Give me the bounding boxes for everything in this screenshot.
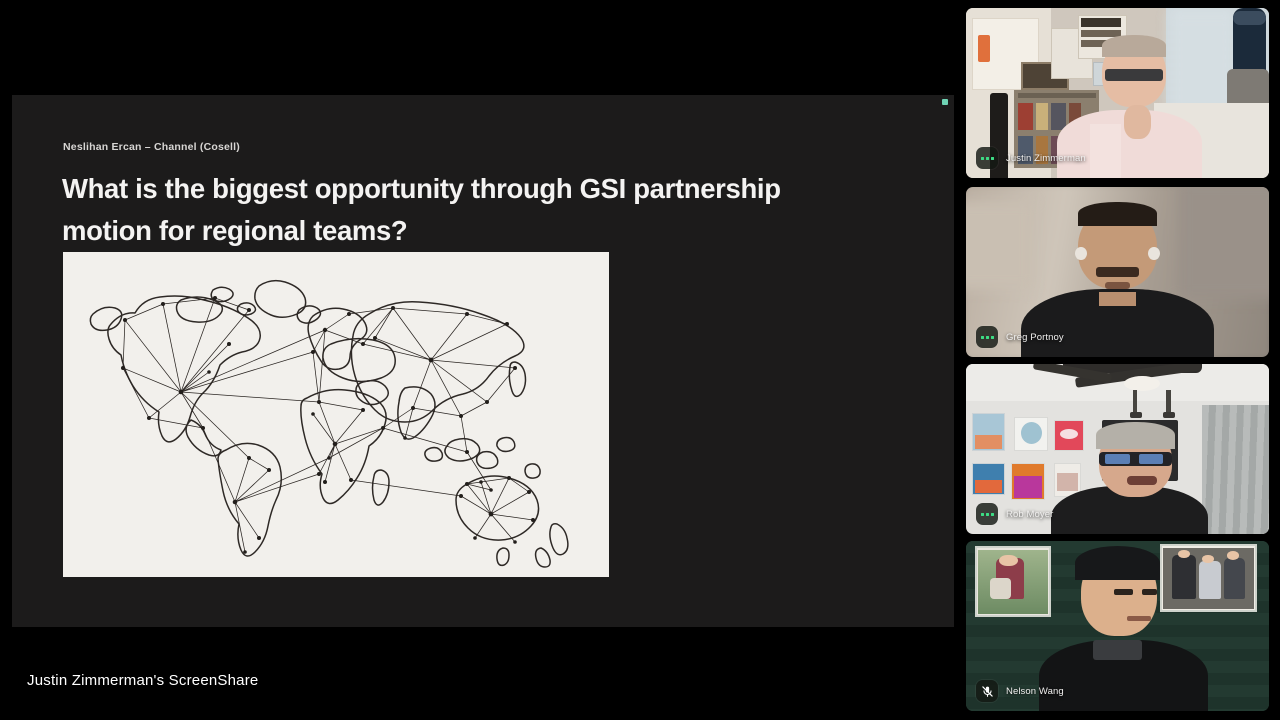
participant-nametag: Rob Moyer <box>976 503 1053 525</box>
participant-name: Greg Portnoy <box>1006 332 1064 343</box>
participant-tile-justin-zimmerman[interactable]: Justin Zimmerman <box>966 8 1269 178</box>
screenshare-label: Justin Zimmerman's ScreenShare <box>27 672 258 689</box>
audio-level-icon <box>976 326 998 348</box>
slide-eyebrow: Neslihan Ercan – Channel (Cosell) <box>63 141 240 153</box>
audio-level-icon <box>976 147 998 169</box>
world-map-network-image: .ld { fill:none; stroke:#2e2926; stroke-… <box>63 252 609 577</box>
presentation-slide[interactable]: Neslihan Ercan – Channel (Cosell) What i… <box>12 95 954 627</box>
video-call-screen: Neslihan Ercan – Channel (Cosell) What i… <box>0 0 1280 720</box>
participant-name: Justin Zimmerman <box>1006 153 1086 164</box>
mic-muted-icon <box>976 680 998 702</box>
audio-level-icon <box>976 503 998 525</box>
participant-nametag: Nelson Wang <box>976 680 1064 702</box>
participant-tile-greg-portnoy[interactable]: Greg Portnoy <box>966 187 1269 357</box>
participant-tile-rob-moyer[interactable]: Rob Moyer <box>966 364 1269 534</box>
participant-nametag: Greg Portnoy <box>976 326 1064 348</box>
participant-tile-nelson-wang[interactable]: Nelson Wang <box>966 541 1269 711</box>
slide-status-marker <box>942 99 948 105</box>
participant-name: Rob Moyer <box>1006 509 1053 520</box>
participant-name: Nelson Wang <box>1006 686 1064 697</box>
participant-rail: Justin Zimmerman Gre <box>964 0 1280 720</box>
participant-nametag: Justin Zimmerman <box>976 147 1086 169</box>
slide-title: What is the biggest opportunity through … <box>62 168 862 252</box>
screenshare-stage[interactable]: Neslihan Ercan – Channel (Cosell) What i… <box>0 0 962 720</box>
